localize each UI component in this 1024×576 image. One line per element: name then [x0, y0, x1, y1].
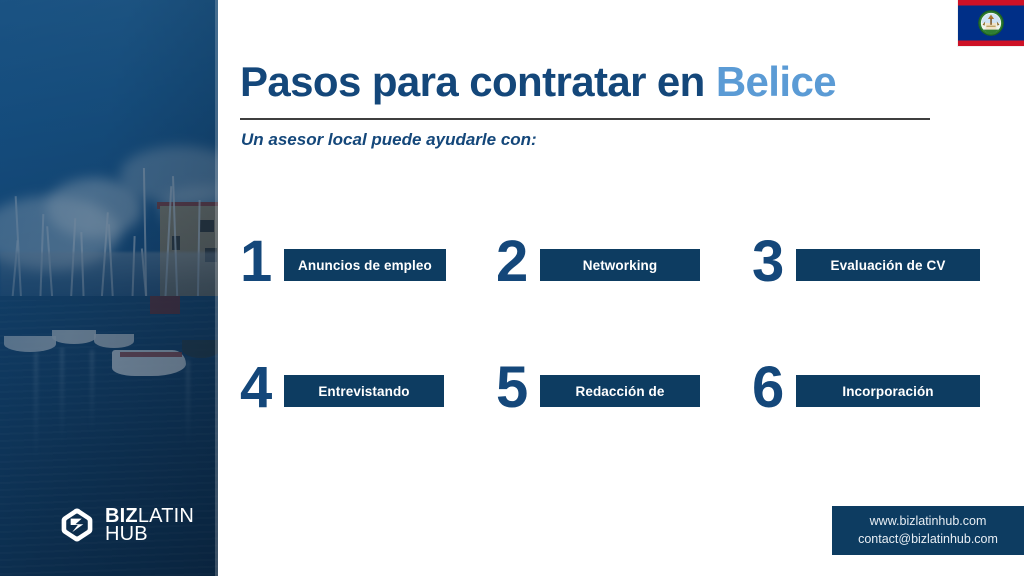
contact-email[interactable]: contact@bizlatinhub.com: [858, 532, 998, 548]
logo-wordmark: BIZLATIN HUB: [105, 507, 194, 544]
photo-right-edge-highlight: [215, 0, 218, 576]
step-label-2[interactable]: Networking: [540, 249, 700, 281]
step-number-3: 3: [752, 238, 796, 286]
step-item-1[interactable]: 1 Anuncios de empleo: [240, 238, 496, 364]
belize-flag-icon: [958, 0, 1024, 46]
slide-canvas: BIZLATIN HUB Pasos para contratar en Bel…: [0, 0, 1024, 576]
step-label-3[interactable]: Evaluación de CV: [796, 249, 980, 281]
photo-brand-overlay: [0, 0, 218, 576]
bizlatinhub-hexagon-icon: [58, 506, 96, 544]
step-item-6[interactable]: 6 Incorporación: [752, 364, 1008, 490]
step-item-2[interactable]: 2 Networking: [496, 238, 752, 364]
step-number-1: 1: [240, 238, 284, 286]
page-title-accent: Belice: [716, 58, 836, 105]
step-number-2: 2: [496, 238, 540, 286]
page-title-main: Pasos para contratar en: [240, 58, 705, 105]
step-number-6: 6: [752, 364, 796, 412]
bizlatinhub-logo[interactable]: BIZLATIN HUB: [58, 506, 194, 544]
steps-grid: 1 Anuncios de empleo 2 Networking 3 Eval…: [240, 238, 1010, 490]
step-number-5: 5: [496, 364, 540, 412]
step-label-5[interactable]: Redacción de: [540, 375, 700, 407]
step-item-5[interactable]: 5 Redacción de: [496, 364, 752, 490]
step-label-1[interactable]: Anuncios de empleo: [284, 249, 446, 281]
logo-hub: HUB: [105, 525, 194, 543]
contact-website[interactable]: www.bizlatinhub.com: [870, 514, 987, 530]
step-label-4[interactable]: Entrevistando: [284, 375, 444, 407]
page-subtitle: Un asesor local puede ayudarle con:: [241, 130, 537, 150]
belize-marina-sailboats-photo: [0, 0, 218, 576]
title-divider: [240, 118, 930, 120]
step-item-4[interactable]: 4 Entrevistando: [240, 364, 496, 490]
page-title: Pasos para contratar en Belice: [240, 58, 940, 106]
step-label-6[interactable]: Incorporación: [796, 375, 980, 407]
step-number-4: 4: [240, 364, 284, 412]
step-item-3[interactable]: 3 Evaluación de CV: [752, 238, 1008, 364]
contact-box: www.bizlatinhub.com contact@bizlatinhub.…: [832, 506, 1024, 555]
